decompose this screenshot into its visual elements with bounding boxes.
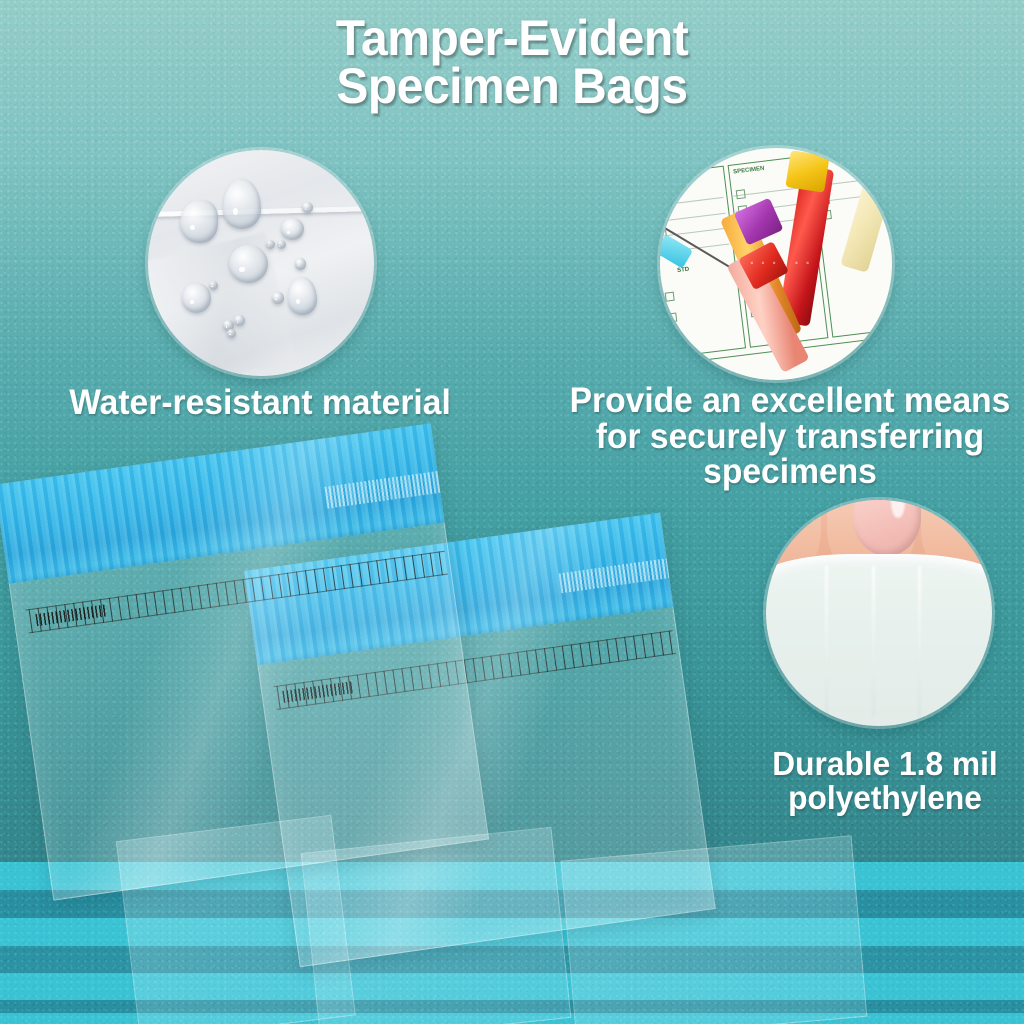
infographic-canvas: Tamper-Evident Specimen Bags (0, 0, 1024, 1024)
water-drop-icon (182, 283, 211, 312)
page-title: Tamper-Evident Specimen Bags (20, 14, 1003, 110)
tube-cap-yellow (785, 150, 830, 193)
water-drop-icon (281, 218, 304, 241)
feature-image-durable-polyethylene (766, 500, 992, 726)
water-drop-icon (272, 292, 283, 303)
water-drop-icon (266, 240, 275, 249)
form-checkbox (669, 334, 679, 344)
water-drop-icon (227, 329, 236, 338)
caption-water-resistant: Water-resistant material (68, 385, 452, 421)
water-drop-icon (295, 258, 306, 269)
watermark-text: · · · · · · (688, 255, 874, 272)
caption-durable-polyethylene: Durable 1.8 mil polyethylene (765, 747, 1005, 814)
film-fold-icon (872, 566, 875, 718)
water-drop-icon (180, 200, 218, 243)
polyethylene-film (766, 554, 992, 726)
bag-sheen (0, 423, 489, 900)
caption-secure-transfer: Provide an excellent means for securely … (564, 383, 1015, 490)
feature-image-water-resistant (148, 150, 374, 376)
water-drop-icon (229, 245, 267, 283)
water-droplet-photo (148, 150, 374, 376)
title-line-2: Specimen Bags (20, 62, 1003, 110)
feature-image-secure-transfer: OLOGY SPECIMEN MICRO STD PARASITES (660, 148, 892, 380)
form-checkbox (664, 292, 674, 302)
specimen-tubes-photo: OLOGY SPECIMEN MICRO STD PARASITES (660, 148, 892, 380)
form-checkbox (736, 189, 746, 199)
water-drop-icon (223, 179, 261, 229)
film-fold-icon (918, 566, 921, 718)
stretched-film-photo (766, 500, 992, 726)
form-checkbox (667, 313, 677, 323)
specimen-bag-front (0, 423, 489, 900)
film-fold-icon (825, 566, 828, 718)
